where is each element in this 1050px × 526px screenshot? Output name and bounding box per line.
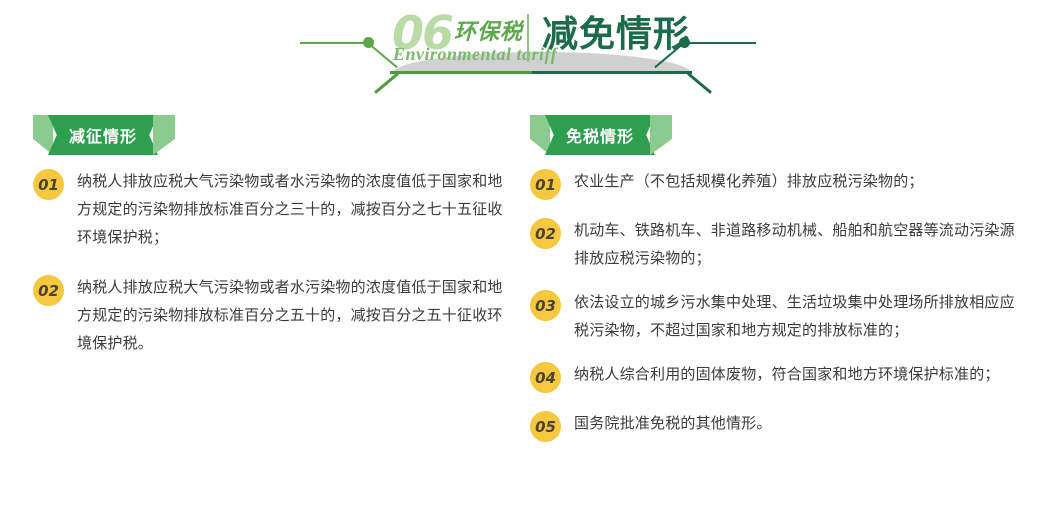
column-reduction: 减征情形 01 纳税人排放应税大气污染物或者水污染物的浓度值低于国家和地方规定的…	[33, 95, 503, 379]
item-number-badge: 02	[33, 275, 64, 306]
item-text: 国务院批准免税的其他情形。	[574, 409, 772, 437]
column-exemption: 免税情形 01 农业生产（不包括规模化养殖）排放应税污染物的； 02 机动车、铁…	[530, 95, 1025, 458]
item-text: 纳税人排放应税大气污染物或者水污染物的浓度值低于国家和地方规定的污染物排放标准百…	[77, 167, 503, 251]
item-number: 05	[535, 418, 556, 436]
header-rule-left-tail	[374, 72, 399, 94]
item-number: 02	[535, 225, 556, 243]
ribbon-banner: 减征情形	[48, 115, 158, 155]
ribbon-wing-left-icon	[33, 115, 53, 155]
item-number: 03	[535, 297, 556, 315]
list-item: 04 纳税人综合利用的固体废物，符合国家和地方环境保护标准的；	[530, 360, 1025, 393]
item-number: 04	[535, 369, 556, 387]
ribbon-label: 免税情形	[566, 123, 634, 147]
item-number-badge: 03	[530, 290, 561, 321]
header-rule-left	[390, 71, 532, 74]
item-text: 机动车、铁路机车、非道路移动机械、船舶和航空器等流动污染源排放应税污染物的；	[574, 216, 1025, 272]
list-item: 02 机动车、铁路机车、非道路移动机械、船舶和航空器等流动污染源排放应税污染物的…	[530, 216, 1025, 272]
item-number-badge: 02	[530, 218, 561, 249]
section-english-subtitle: Environmental tariff	[393, 44, 557, 65]
item-number: 02	[38, 282, 59, 300]
list-item: 01 农业生产（不包括规模化养殖）排放应税污染物的；	[530, 167, 1025, 200]
header-divider	[527, 14, 529, 62]
header-rule-right-tail	[687, 72, 712, 94]
item-number: 01	[38, 176, 59, 194]
header-section-badge: 06 环保税 Environmental tariff	[392, 8, 537, 70]
ribbon-label: 减征情形	[69, 123, 137, 147]
page-title: 减免情形	[542, 12, 690, 57]
ribbon-exemption: 免税情形	[530, 95, 1025, 145]
list-item: 03 依法设立的城乡污水集中处理、生活垃圾集中处理场所排放相应应税污染物，不超过…	[530, 288, 1025, 344]
item-number-badge: 04	[530, 362, 561, 393]
content-columns: 减征情形 01 纳税人排放应税大气污染物或者水污染物的浓度值低于国家和地方规定的…	[0, 95, 1050, 526]
header-decoration-dot-right	[679, 37, 690, 48]
header-rule-right	[532, 71, 692, 74]
section-chinese-subtitle: 环保税	[454, 14, 523, 46]
list-item: 05 国务院批准免税的其他情形。	[530, 409, 1025, 442]
item-text: 农业生产（不包括规模化养殖）排放应税污染物的；	[574, 167, 924, 195]
list-item: 02 纳税人排放应税大气污染物或者水污染物的浓度值低于国家和地方规定的污染物排放…	[33, 273, 503, 357]
ribbon-wing-right-icon	[153, 115, 175, 155]
item-text: 依法设立的城乡污水集中处理、生活垃圾集中处理场所排放相应应税污染物，不超过国家和…	[574, 288, 1025, 344]
ribbon-wing-left-icon	[530, 115, 550, 155]
item-number-badge: 05	[530, 411, 561, 442]
ribbon-reduction: 减征情形	[33, 95, 503, 145]
list-item: 01 纳税人排放应税大气污染物或者水污染物的浓度值低于国家和地方规定的污染物排放…	[33, 167, 503, 251]
page-header: 06 环保税 Environmental tariff 减免情形	[0, 0, 1050, 95]
ribbon-wing-right-icon	[650, 115, 672, 155]
item-number: 01	[535, 176, 556, 194]
ribbon-banner: 免税情形	[545, 115, 655, 155]
item-text: 纳税人排放应税大气污染物或者水污染物的浓度值低于国家和地方规定的污染物排放标准百…	[77, 273, 503, 357]
item-number-badge: 01	[530, 169, 561, 200]
header-decoration-line-right	[690, 42, 756, 44]
item-number-badge: 01	[33, 169, 64, 200]
header-decoration-line-left	[300, 42, 366, 44]
item-text: 纳税人综合利用的固体废物，符合国家和地方环境保护标准的；	[574, 360, 1000, 388]
